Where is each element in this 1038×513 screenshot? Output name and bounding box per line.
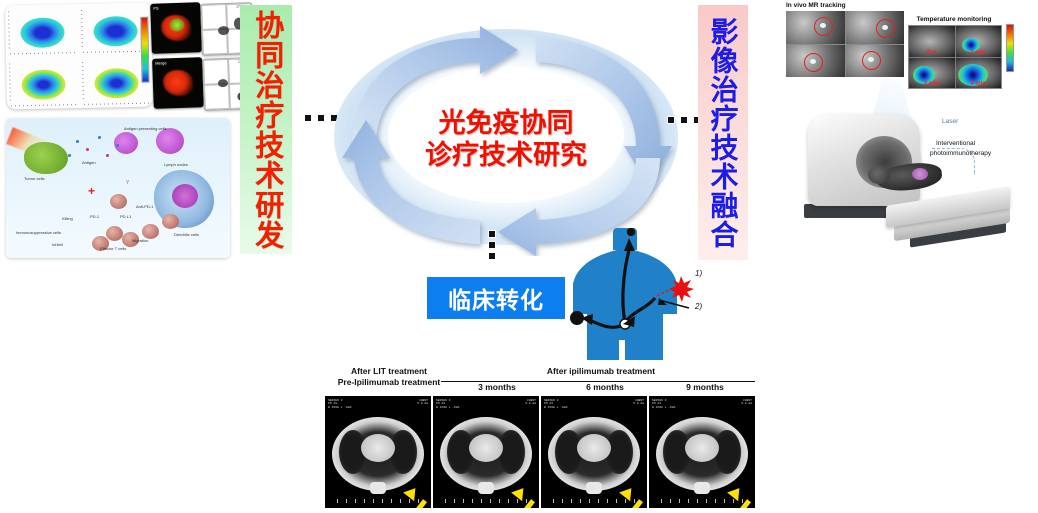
fluorescence-image: Merge xyxy=(152,57,204,109)
immune-cycle-label: Antigen presenting cells xyxy=(124,126,166,131)
mr-image xyxy=(786,45,845,78)
immune-cycle-label: Effector T cells xyxy=(100,246,126,251)
immune-cycle-label: Immunosuppressive cells xyxy=(16,230,61,235)
mr-tracking-caption: In vivo MR tracking xyxy=(786,2,904,9)
effector-t-cell xyxy=(106,226,123,241)
effector-t-cell xyxy=(142,224,159,239)
surface-plot-cell xyxy=(5,4,79,57)
mr-image xyxy=(786,11,845,44)
ct-header-left: After LIT treatment Pre-Ipilimumab treat… xyxy=(325,366,453,389)
plot-y-axis xyxy=(9,63,11,103)
surface-cone xyxy=(93,16,138,47)
dot xyxy=(489,242,495,248)
temperature-image: 1 min xyxy=(956,26,1002,57)
dot xyxy=(489,253,495,259)
mr-image xyxy=(846,11,905,44)
ct-image: SERIES 3 IM 20 W 1500 L -600 CHEST 5.0 m… xyxy=(433,396,539,508)
plot-y-axis xyxy=(82,62,84,102)
human-figure-diagram: 1) 2) xyxy=(563,228,711,362)
plot-x-axis xyxy=(83,51,148,53)
surface-cone xyxy=(94,68,139,99)
plot-y-axis xyxy=(8,11,10,51)
tumor-cells xyxy=(24,142,68,174)
fluorescence-label: PS xyxy=(153,6,159,11)
ct-timepoint-6months: 6 months xyxy=(553,382,657,392)
cycle-diagram: 光免疫协同 诊疗技术研究 xyxy=(330,24,682,256)
dendritic-cell-core xyxy=(172,184,198,208)
surface-plot-panel xyxy=(5,3,153,110)
temperature-timepoint: 4 min xyxy=(956,81,1002,87)
ct-header: After LIT treatment Pre-Ipilimumab treat… xyxy=(325,368,757,394)
mr-image xyxy=(846,45,905,78)
immune-cycle-label: PD-1 xyxy=(90,214,99,219)
cycle-title: 光免疫协同 诊疗技术研究 xyxy=(425,108,587,172)
immune-cycle-label: Anti-PD-1 xyxy=(136,204,153,209)
immune-cycle-label: Antigen xyxy=(82,160,96,165)
temperature-timepoint: 2 min xyxy=(909,81,955,87)
immune-cycle-label: Inhibit xyxy=(52,242,63,247)
dot xyxy=(489,231,495,237)
immune-cycle-panel: + Y Antigen presenting cellsAntigenLymph… xyxy=(6,118,230,258)
therapy-label-line2: photoimmunotherapy xyxy=(930,150,991,158)
fluorescence-panel: PS Merge xyxy=(150,1,204,111)
antibody-icon: Y xyxy=(126,180,129,186)
temperature-image: 4 min xyxy=(956,58,1002,89)
ct-image-row: SERIES 3 IM 18 W 1500 L -600 CHEST 5.0 m… xyxy=(325,396,755,508)
ct-timepoint-3months: 3 months xyxy=(445,382,549,392)
antigen-presenting-cell xyxy=(114,132,138,154)
ct-header-left-line1: After LIT treatment xyxy=(325,366,453,377)
dot xyxy=(681,117,687,123)
fluorescence-label: Merge xyxy=(155,60,167,65)
dot xyxy=(318,115,324,121)
clinical-translation-box: 临床转化 xyxy=(427,277,565,319)
immune-cycle-label: Killing xyxy=(62,216,73,221)
surface-plot-cell xyxy=(6,56,80,109)
temperature-timepoint: Pre xyxy=(909,50,955,56)
mri-scanner-illustration: Laser Interventional photoimmunotherapy xyxy=(790,92,1014,250)
surface-cone xyxy=(20,17,65,48)
cycle-title-line1: 光免疫协同 xyxy=(439,108,574,138)
ct-image: SERIES 3 IM 18 W 1500 L -600 CHEST 5.0 m… xyxy=(325,396,431,508)
cycle-title-line2: 诊疗技术研究 xyxy=(425,140,587,172)
temperature-image-grid: Pre 1 min 2 min 4 min xyxy=(908,25,1002,89)
temperature-caption: Temperature monitoring xyxy=(908,16,1000,23)
banner-left-text: 协同治疗技术研发 xyxy=(251,10,281,250)
human-marker-1: 1) xyxy=(695,269,702,278)
surface-cone xyxy=(21,69,66,100)
temperature-monitoring-panel: Temperature monitoring Pre 1 min 2 min 4… xyxy=(908,16,1014,90)
ct-timepoint-9months: 9 months xyxy=(655,382,755,392)
colorbar xyxy=(140,17,149,83)
banner-right-text: 影像治疗技术融合 xyxy=(708,17,737,249)
immune-cycle-label: Migration xyxy=(132,238,148,243)
laser-label: Laser xyxy=(942,118,958,126)
human-marker-2: 2) xyxy=(695,302,702,311)
temperature-image: Pre xyxy=(909,26,955,57)
plot-x-axis xyxy=(84,103,149,105)
connector-dots-down xyxy=(489,231,495,259)
immune-cycle-label: PD-L1 xyxy=(120,214,131,219)
effector-t-cell xyxy=(162,214,179,229)
plot-x-axis xyxy=(10,52,75,54)
ct-image: SERIES 3 IM 22 W 1500 L -600 CHEST 5.0 m… xyxy=(541,396,647,508)
t-cell-receptor xyxy=(110,194,127,209)
connector-dots-right xyxy=(668,117,700,123)
ct-header-left-line2: Pre-Ipilimumab treatment xyxy=(325,377,453,388)
banner-collaborative-therapy: 协同治疗技术研发 xyxy=(240,5,292,254)
tumor-marker xyxy=(912,168,928,180)
banner-imaging-therapy-fusion: 影像治疗技术融合 xyxy=(698,5,748,260)
human-figure-svg xyxy=(563,228,711,362)
plus-icon: + xyxy=(88,184,95,198)
fluorescence-image: PS xyxy=(150,2,202,54)
temperature-image: 2 min xyxy=(909,58,955,89)
antigen-presenting-cell xyxy=(156,128,184,154)
immune-cycle-label: Tumor cells xyxy=(24,176,45,181)
clinical-translation-label: 临床转化 xyxy=(448,281,544,315)
surface-plot-grid xyxy=(5,3,153,110)
dot xyxy=(668,117,674,123)
plot-y-axis xyxy=(81,10,83,50)
ct-scan-strip: After LIT treatment Pre-Ipilimumab treat… xyxy=(325,368,757,510)
mr-tracking-panel: In vivo MR tracking xyxy=(786,2,904,80)
fluorescence-signal xyxy=(162,69,193,96)
mr-image-grid xyxy=(786,11,904,77)
ct-image: SERIES 3 IM 24 W 1500 L -600 CHEST 5.0 m… xyxy=(649,396,755,508)
ct-header-right: After ipilimumab treatment xyxy=(445,366,757,376)
mouse-head xyxy=(868,166,890,184)
dot xyxy=(305,115,311,121)
immune-cycle-label: Lymph nodes xyxy=(164,162,188,167)
immune-cycle-label: Dendritic cells xyxy=(174,232,199,237)
temperature-colorbar xyxy=(1006,24,1014,72)
plot-x-axis xyxy=(11,104,76,106)
temperature-timepoint: 1 min xyxy=(956,50,1002,56)
therapy-label-line1: Interventional xyxy=(936,140,975,148)
